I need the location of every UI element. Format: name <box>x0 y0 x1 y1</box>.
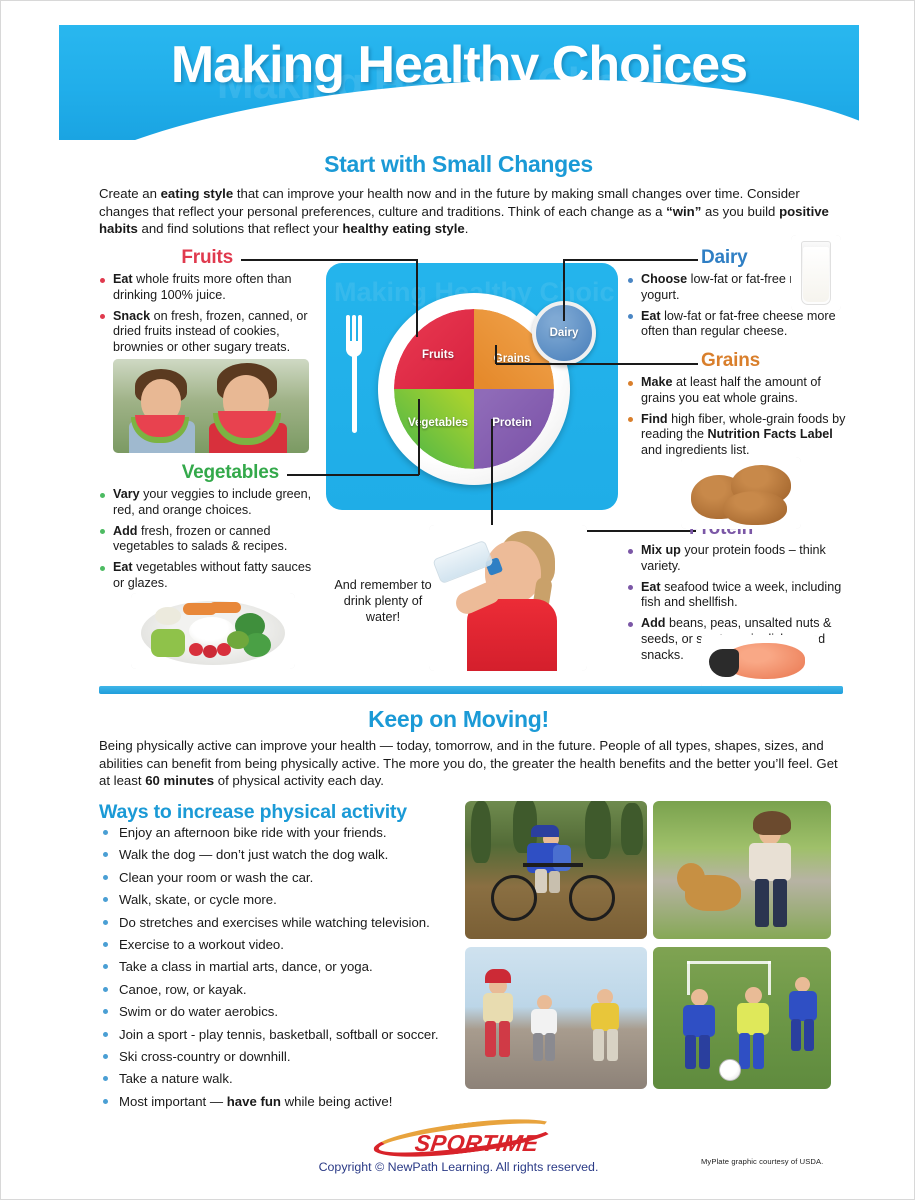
list-item: Take a class in martial arts, dance, or … <box>99 959 471 974</box>
bike-riding-photo <box>465 801 647 939</box>
list-item: Make at least half the amount of grains … <box>627 375 847 407</box>
plate-segment-vegetables: Vegetables <box>394 389 474 469</box>
plate-label-dairy: Dairy <box>550 327 579 339</box>
poster-page: Making Healthy Choices Making Healthy Ch… <box>0 0 915 1200</box>
connector-protein-vertical <box>491 419 493 531</box>
milk-glass-photo <box>791 235 841 311</box>
fork-icon <box>344 315 364 433</box>
group-fruits-heading: Fruits <box>99 247 317 269</box>
list-item: Join a sport - play tennis, basketball, … <box>99 1027 471 1042</box>
plate-label-fruits: Fruits <box>422 349 454 361</box>
sportime-logo: SPORTIME <box>373 1123 557 1157</box>
list-item: Take a nature walk. <box>99 1071 471 1086</box>
list-item: Eat whole fruits more often than drinkin… <box>99 272 317 304</box>
list-item: Eat vegetables without fatty sauces or g… <box>99 560 321 592</box>
start-section-title: Start with Small Changes <box>1 151 915 178</box>
plate-segment-protein: Protein <box>474 389 554 469</box>
list-item: Ski cross-country or downhill. <box>99 1049 471 1064</box>
girl-drinking-water-photo <box>429 525 587 671</box>
veggie-platter-photo <box>131 593 295 669</box>
list-item: Clean your room or wash the car. <box>99 870 471 885</box>
list-item: Exercise to a workout video. <box>99 937 471 952</box>
connector-grains-vertical <box>495 345 497 364</box>
list-item: Eat low-fat or fat-free cheese more ofte… <box>627 309 845 341</box>
list-item: Snack on fresh, frozen, canned, or dried… <box>99 309 317 356</box>
group-grains-heading: Grains <box>627 350 847 372</box>
plate-segment-fruits: Fruits <box>394 309 474 389</box>
list-item: Eat seafood twice a week, including fish… <box>627 580 842 612</box>
list-item: Mix up your protein foods – think variet… <box>627 543 842 575</box>
ways-to-increase-activity-list: Enjoy an afternoon bike ride with your f… <box>99 825 471 1116</box>
watermelon-boys-photo <box>113 359 309 453</box>
section-divider <box>99 686 843 694</box>
group-vegetables: Vegetables Vary your veggies to include … <box>99 462 321 597</box>
group-vegetables-list: Vary your veggies to include green, red,… <box>99 487 321 592</box>
whole-grain-bread-photo <box>681 457 801 529</box>
list-item: Vary your veggies to include green, red,… <box>99 487 321 519</box>
moving-section-title: Keep on Moving! <box>1 706 915 733</box>
poster-header: Making Healthy Choices Making Healthy Ch… <box>59 25 859 140</box>
myplate-panel: Making Healthy Choices Fruits Grains Veg… <box>326 263 618 510</box>
group-fruits: Fruits Eat whole fruits more often than … <box>99 247 317 361</box>
water-reminder-note: And remember to drink plenty of water! <box>331 577 435 625</box>
group-vegetables-heading: Vegetables <box>99 462 321 484</box>
connector-fruits-vertical <box>416 259 418 337</box>
group-grains: Grains Make at least half the amount of … <box>627 350 847 464</box>
salmon-photo <box>701 635 819 689</box>
group-grains-list: Make at least half the amount of grains … <box>627 375 847 459</box>
moving-paragraph: Being physically active can improve your… <box>99 737 851 790</box>
list-item: Add fresh, frozen or canned vegetables t… <box>99 524 321 556</box>
logo-wordmark: SPORTIME <box>413 1130 541 1157</box>
list-item: Canoe, row, or kayak. <box>99 982 471 997</box>
intro-paragraph: Create an eating style that can improve … <box>99 185 851 238</box>
list-item: Most important — have fun while being ac… <box>99 1094 471 1109</box>
list-item: Do stretches and exercises while watchin… <box>99 915 471 930</box>
group-fruits-list: Eat whole fruits more often than drinkin… <box>99 272 317 356</box>
soccer-kids-photo <box>653 947 831 1089</box>
plate-label-vegetables: Vegetables <box>408 417 468 429</box>
list-item: Swim or do water aerobics. <box>99 1004 471 1019</box>
list-item: Walk the dog — don’t just watch the dog … <box>99 847 471 862</box>
list-item: Walk, skate, or cycle more. <box>99 892 471 907</box>
list-item: Find high fiber, whole-grain foods by re… <box>627 412 847 459</box>
plate-label-protein: Protein <box>492 417 532 429</box>
walking-dog-photo <box>653 801 831 939</box>
ways-to-increase-activity-title: Ways to increase physical activity <box>99 801 407 824</box>
list-item: Enjoy an afternoon bike ride with your f… <box>99 825 471 840</box>
connector-vegetables-vertical <box>418 399 420 475</box>
rollerblading-kids-photo <box>465 947 647 1089</box>
myplate-usda-credit: MyPlate graphic courtesy of USDA. <box>701 1157 823 1166</box>
connector-dairy-vertical <box>563 259 565 321</box>
